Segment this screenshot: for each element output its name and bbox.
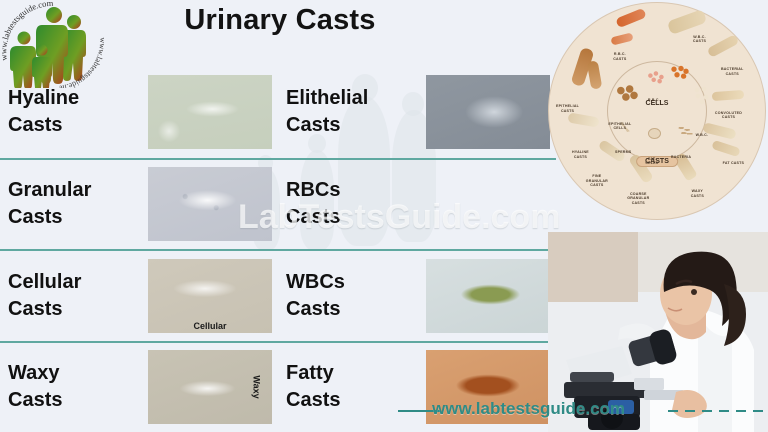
epithelial-cells-icon (616, 85, 638, 101)
chart-label-epithelial-cells: EPITHELIAL CELLS (607, 122, 633, 131)
chart-label-bacteria: BACTERIA (670, 155, 692, 159)
chart-label-wbc-casts: W.B.C. CASTS (688, 35, 712, 44)
cellular-cast-micrograph: Cellular (148, 259, 272, 333)
cell-waxy-casts[interactable]: Waxy Casts Waxy (0, 343, 278, 432)
chart-label-fat-casts: FAT CASTS (722, 161, 744, 165)
chart-label-convoluted-casts: CONVOLUTED CASTS (712, 111, 746, 120)
label-waxy-casts: Waxy Casts (0, 360, 148, 414)
label-cellular-casts: Cellular Casts (0, 269, 148, 323)
chart-label-rbc-casts: R.B.C. CASTS (607, 52, 633, 61)
chart-label-sperms: SPERMS (611, 150, 635, 154)
label-fatty-casts: Fatty Casts (278, 360, 426, 414)
epithelial-cast-micrograph (426, 75, 550, 149)
chart-label-fine-granular-casts: FINE GRANULAR CASTS (583, 174, 611, 187)
micrograph-caption-cellular: Cellular (193, 321, 226, 331)
table-row: Cellular Casts Cellular WBCs Casts (0, 249, 556, 341)
cell-cellular-casts[interactable]: Cellular Casts Cellular (0, 251, 278, 341)
label-epithelial-casts: Elithelial Casts (278, 85, 426, 139)
chart-label-bacterial-casts: BACTERIAL CASTS (720, 67, 744, 76)
chart-label-rbc: R.B.C. (644, 98, 664, 102)
table-row: Waxy Casts Waxy Fatty Casts (0, 341, 556, 432)
cell-rbc-casts[interactable]: RBCs Casts (278, 160, 556, 250)
chart-label-waxy-casts: WAXY CASTS (685, 189, 709, 198)
chart-label-coarse-granular-casts: COARSE GRANULAR CASTS (624, 192, 652, 205)
cell-epithelial-casts[interactable]: Elithelial Casts (278, 66, 556, 158)
micrograph-caption-waxy: Waxy (251, 376, 261, 399)
label-wbc-casts: WBCs Casts (278, 269, 426, 323)
label-hyaline-casts: Hyaline Casts (0, 85, 148, 139)
label-granular-casts: Granular Casts (0, 177, 148, 231)
label-rbc-casts: RBCs Casts (278, 177, 426, 231)
orange-cells-icon (670, 65, 690, 79)
table-row: Granular Casts RBCs Casts (0, 158, 556, 250)
wbc-cluster-icon (692, 85, 712, 105)
site-logo[interactable]: www.labtestsguide.com www.labtestsguide.… (2, 2, 108, 88)
chart-label-epithelial-casts: EPITHELIAL CASTS (555, 104, 581, 113)
chart-label-wbc: W.B.C. (692, 133, 712, 137)
cell-wbc-casts[interactable]: WBCs Casts (278, 251, 556, 341)
chart-label-fat-cells: FAT CELLS (642, 157, 662, 166)
casts-grid: Hyaline Casts Elithelial Casts Granular … (0, 66, 556, 432)
urine-sediment-chart: CELLS CASTS R.B.C. W.B.C. EPITHELIAL CEL… (548, 2, 766, 220)
wbc-cast-micrograph (426, 259, 550, 333)
rbc-cluster-icon (646, 70, 668, 84)
granular-cast-micrograph (148, 167, 272, 241)
cell-granular-casts[interactable]: Granular Casts (0, 160, 278, 250)
lab-technician-microscope-photo (548, 232, 768, 432)
waxy-cast-micrograph: Waxy (148, 350, 272, 424)
hyaline-cast-micrograph (148, 75, 272, 149)
cell-fatty-casts[interactable]: Fatty Casts (278, 343, 556, 432)
chart-label-hyaline-casts: HYALINE CASTS (565, 150, 595, 159)
fatty-cast-micrograph (426, 350, 550, 424)
rbc-cast-micrograph (426, 167, 550, 241)
